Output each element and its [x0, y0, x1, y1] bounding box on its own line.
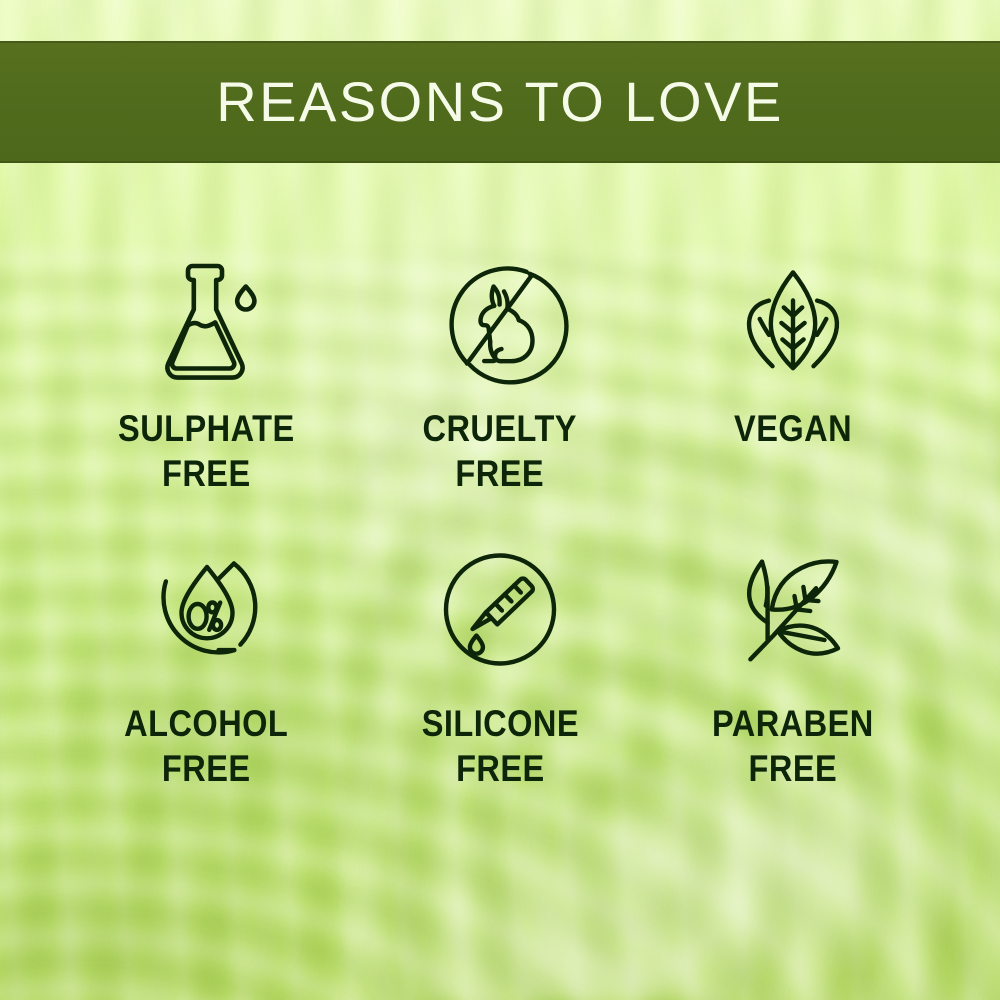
badge-paraben-free: PARABEN FREE	[647, 535, 940, 820]
badge-label: CRUELTY FREE	[423, 406, 577, 496]
header-banner: REASONS TO LOVE	[0, 41, 1000, 163]
zero-percent-droplet-icon	[137, 535, 277, 685]
badge-label: PARABEN FREE	[712, 701, 874, 791]
page-title: REASONS TO LOVE	[216, 74, 784, 130]
three-leaves-icon	[723, 250, 863, 390]
badge-label: ALCOHOL FREE	[125, 701, 289, 791]
flask-droplet-icon	[137, 250, 277, 390]
leaf-sprig-icon	[723, 535, 863, 685]
badge-sulphate-free: SULPHATE FREE	[60, 250, 353, 535]
badge-label: SULPHATE FREE	[118, 406, 295, 496]
badge-cruelty-free: CRUELTY FREE	[353, 250, 646, 535]
badge-vegan: VEGAN	[647, 250, 940, 535]
dropper-pipette-icon	[430, 535, 570, 685]
benefits-grid: SULPHATE FREE	[60, 250, 940, 820]
promo-graphic: REASONS TO LOVE SULPHATE FREE	[0, 0, 1000, 1000]
badge-label: SILICONE FREE	[421, 701, 578, 791]
badge-alcohol-free: ALCOHOL FREE	[60, 535, 353, 820]
badge-label: VEGAN	[734, 406, 852, 451]
no-rabbit-icon	[430, 250, 570, 390]
badge-silicone-free: SILICONE FREE	[353, 535, 646, 820]
